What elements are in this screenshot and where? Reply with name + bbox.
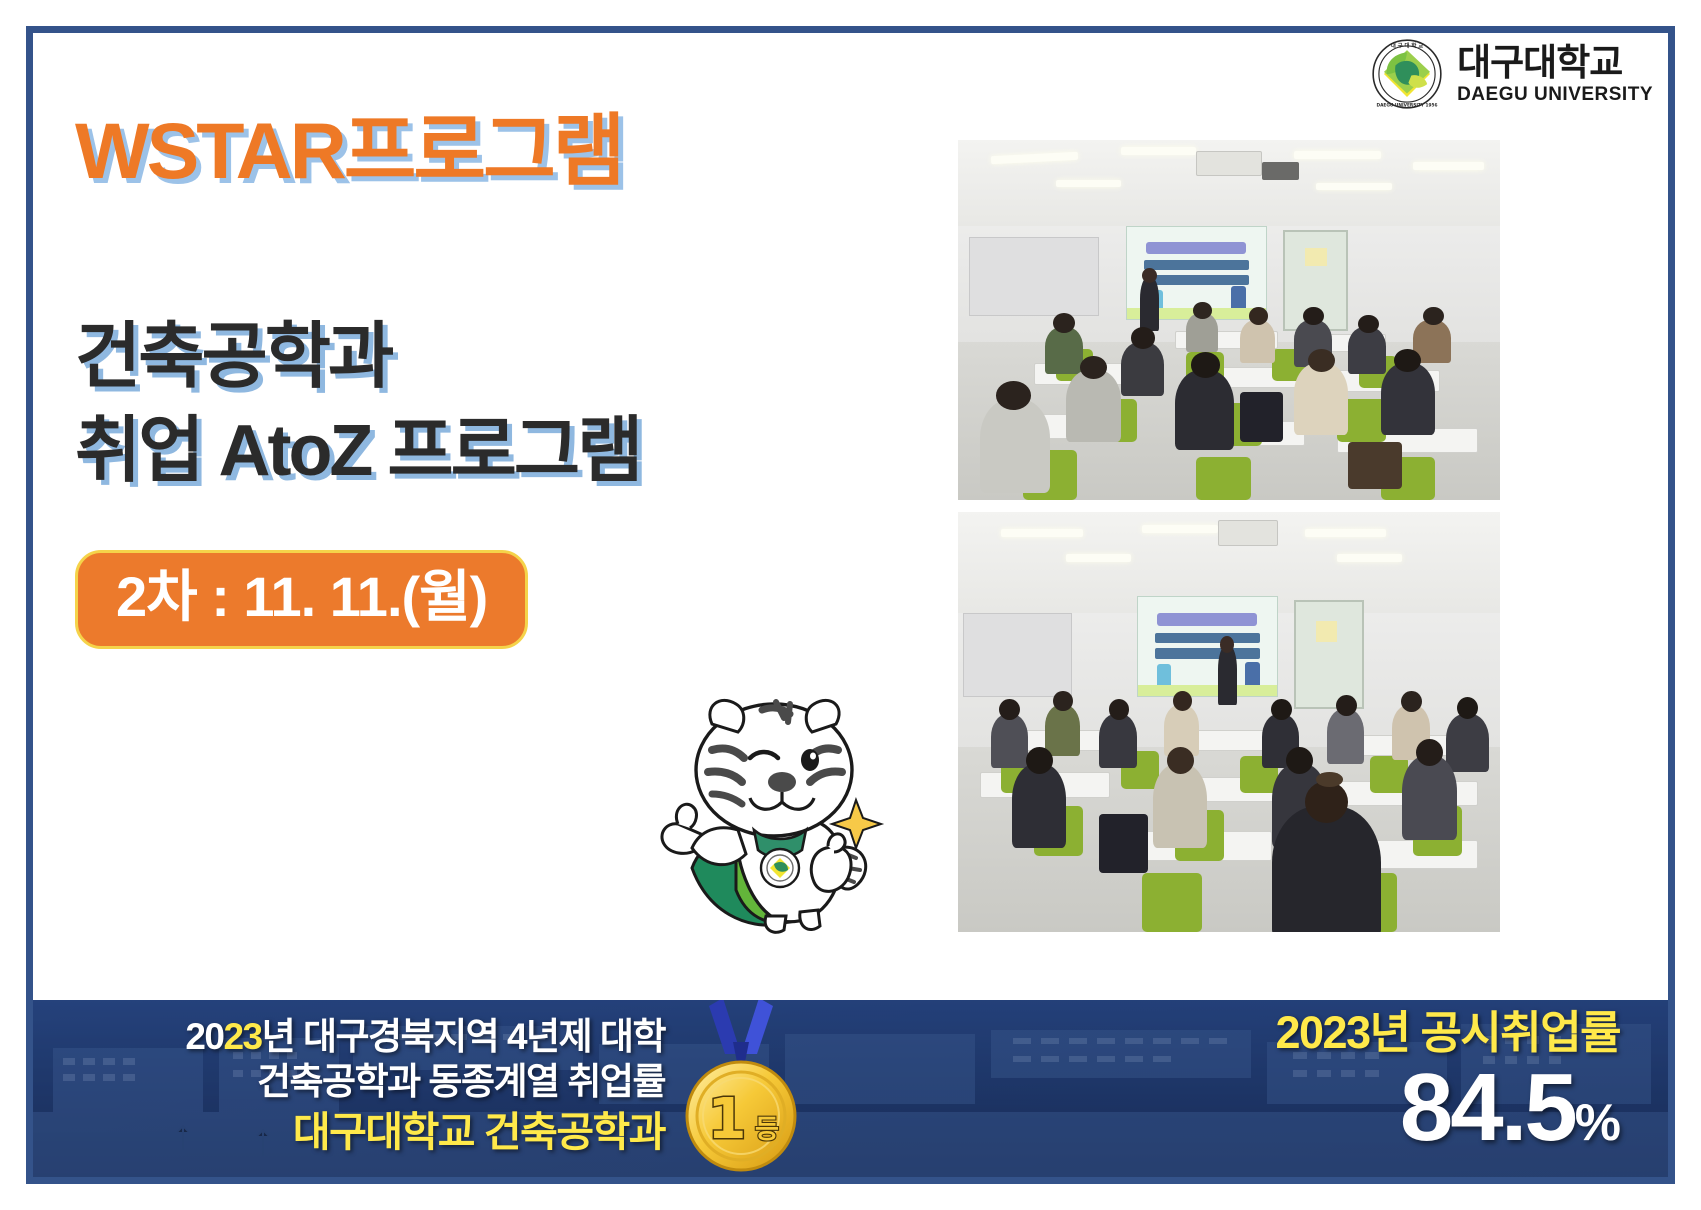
program-title: WSTAR프로그램: [75, 110, 865, 193]
heading-line-2: 취업 AtoZ 프로그램: [75, 405, 865, 499]
session-date-badge: 2차 : 11. 11.(월): [75, 550, 528, 648]
poster-root: 대 구 대 학 교 DAEGU UNIVERSITY 1956 대구대학교 DA…: [0, 0, 1701, 1210]
svg-text:등: 등: [755, 1115, 779, 1145]
svg-text:1: 1: [708, 1087, 747, 1152]
employment-rate-block: 2023년 공시취업률 84.5%: [1000, 1008, 1620, 1156]
employment-rank-text: 2023년 대구경북지역 4년제 대학 건축공학과 동종계열 취업률 대구대학교…: [85, 1014, 665, 1157]
employment-rate-label: 2023년 공시취업률: [1000, 1008, 1620, 1058]
employment-rate-value: 84.5%: [1000, 1060, 1620, 1156]
footer-line-3: 대구대학교 건축공학과: [85, 1107, 665, 1157]
department-heading: 건축공학과 취업 AtoZ 프로그램: [75, 311, 865, 498]
university-name-kr: 대구대학교: [1457, 44, 1653, 81]
footer-line-1: 2023년 대구경북지역 4년제 대학: [85, 1014, 665, 1059]
rate-number: 84.5: [1400, 1054, 1575, 1161]
university-name: 대구대학교 DAEGU UNIVERSITY: [1457, 44, 1653, 104]
footer-year-prefix: 20: [185, 1016, 223, 1057]
classroom-photo-top: [958, 140, 1500, 500]
university-name-en: DAEGU UNIVERSITY: [1457, 85, 1653, 104]
classroom-photo-bottom: [958, 512, 1500, 932]
first-place-medal-icon: 1 등: [671, 1000, 811, 1177]
heading-line-1: 건축공학과: [75, 311, 865, 405]
white-tiger-mascot: [650, 672, 885, 942]
left-content-column: WSTAR프로그램 건축공학과 취업 AtoZ 프로그램 2차 : 11. 11…: [75, 110, 865, 649]
footer-line-2: 건축공학과 동종계열 취업률: [85, 1059, 665, 1104]
rate-percent-sign: %: [1575, 1094, 1620, 1152]
svg-text:DAEGU UNIVERSITY 1956: DAEGU UNIVERSITY 1956: [1377, 102, 1438, 108]
daegu-university-emblem-icon: 대 구 대 학 교 DAEGU UNIVERSITY 1956: [1371, 38, 1443, 110]
footer-year-highlight: 23: [223, 1016, 261, 1057]
university-logo: 대 구 대 학 교 DAEGU UNIVERSITY 1956 대구대학교 DA…: [1371, 38, 1653, 110]
statistics-footer: 2023년 대구경북지역 4년제 대학 건축공학과 동종계열 취업률 대구대학교…: [33, 1000, 1668, 1177]
footer-line-1-rest: 년 대구경북지역 4년제 대학: [262, 1016, 665, 1057]
